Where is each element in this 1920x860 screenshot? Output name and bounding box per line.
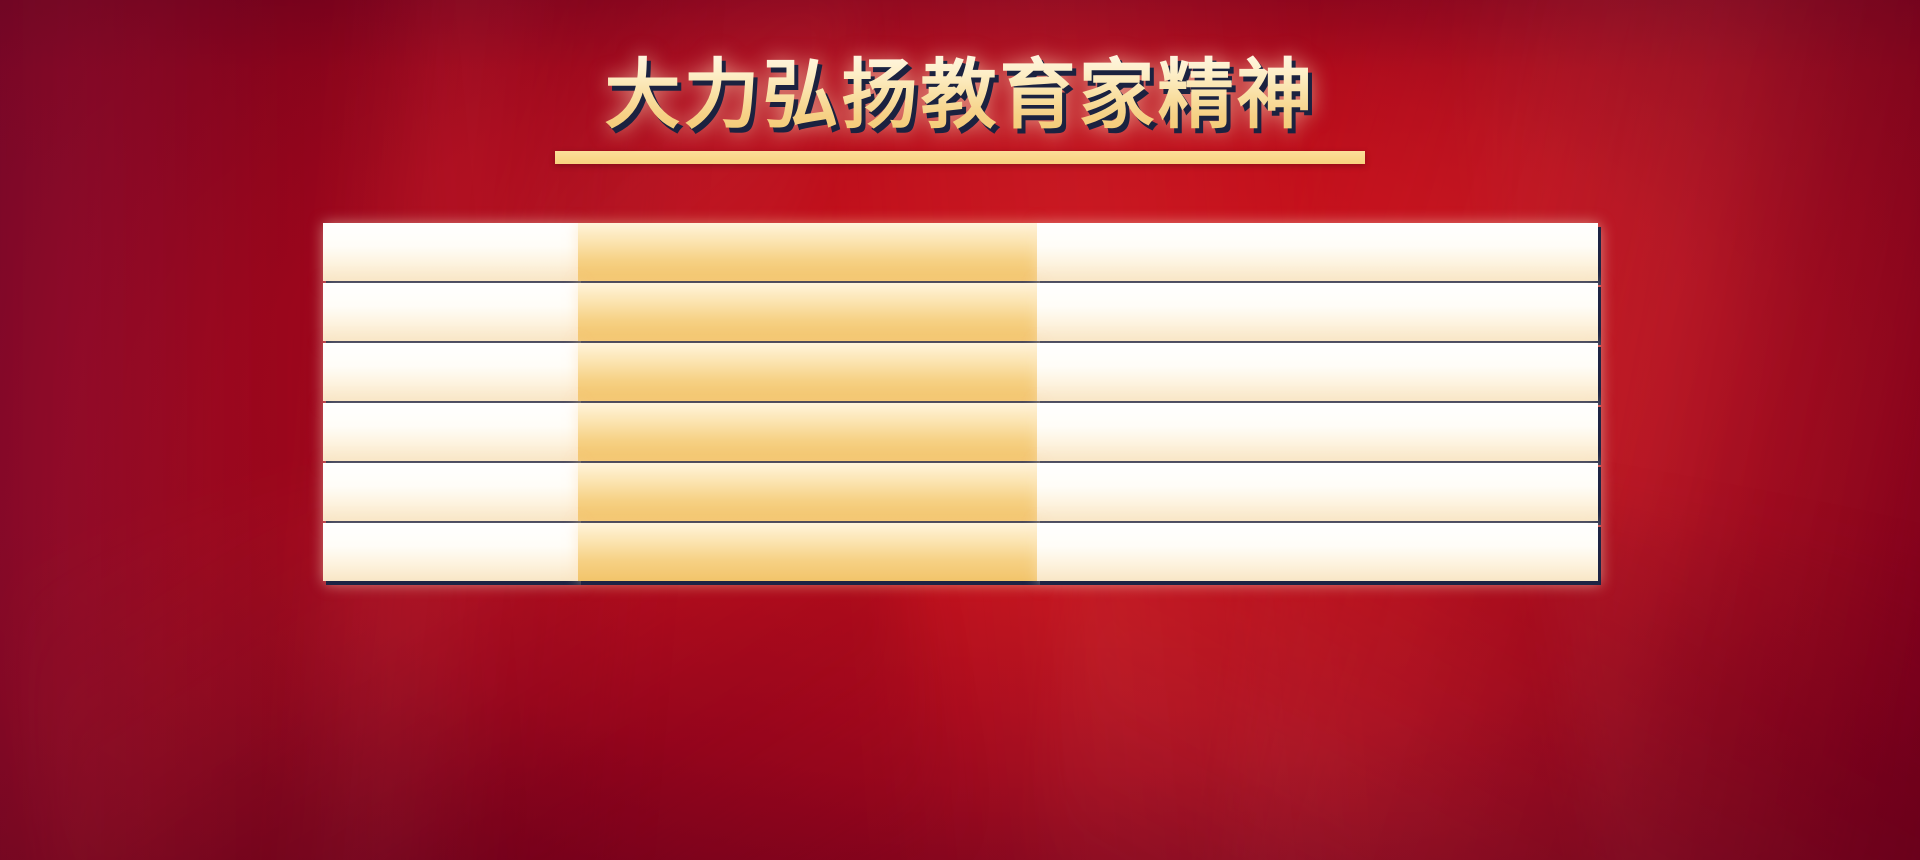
slogan-lead: 乐教爱生、 (323, 463, 578, 521)
banner-poster: 大力弘扬教育家精神 心有大我、至诚报国的理想信念是教育家精神的政治灵魂 言为士则… (0, 0, 1920, 860)
slogan-highlight: 以文化人的弘道追求 (578, 523, 1037, 581)
slogan-tail: 是教育家精神的鲜明品格 (1037, 283, 1598, 341)
slogan-lead: 勤学笃行、 (323, 403, 578, 461)
slogan-tail: 是教育家精神的宏大格局 (1037, 523, 1598, 581)
slogan-lead: 言为士则、 (323, 283, 578, 341)
slogan-tail: 是教育家精神的崇高情怀 (1037, 463, 1598, 521)
slogan-line: 勤学笃行、求是创新的躬耕态度是教育家精神的不竭动力 (0, 402, 1920, 462)
slogan-tail: 是教育家精神的本质要求 (1037, 343, 1598, 401)
slogan-tail: 是教育家精神的政治灵魂 (1037, 223, 1598, 281)
title-block: 大力弘扬教育家精神 (0, 52, 1920, 164)
slogan-highlight: 行为世范的道德情操 (578, 283, 1037, 341)
slogan-lead: 启智润心、 (323, 343, 578, 401)
slogan-line: 胸怀天下、以文化人的弘道追求是教育家精神的宏大格局 (0, 522, 1920, 582)
slogan-line: 乐教爱生、甘于奉献的仁爱之心是教育家精神的崇高情怀 (0, 462, 1920, 522)
slogan-line: 心有大我、至诚报国的理想信念是教育家精神的政治灵魂 (0, 222, 1920, 282)
slogan-lead: 心有大我、 (323, 223, 578, 281)
slogan-highlight: 因材施教的育人智慧 (578, 343, 1037, 401)
slogan-lead: 胸怀天下、 (323, 523, 578, 581)
slogan-line: 言为士则、行为世范的道德情操是教育家精神的鲜明品格 (0, 282, 1920, 342)
slogan-line: 启智润心、因材施教的育人智慧是教育家精神的本质要求 (0, 342, 1920, 402)
slogan-highlight: 至诚报国的理想信念 (578, 223, 1037, 281)
slogan-highlight: 求是创新的躬耕态度 (578, 403, 1037, 461)
page-title: 大力弘扬教育家精神 (605, 52, 1316, 137)
slogan-list: 心有大我、至诚报国的理想信念是教育家精神的政治灵魂 言为士则、行为世范的道德情操… (0, 222, 1920, 582)
title-underline-bar (555, 151, 1365, 164)
slogan-tail: 是教育家精神的不竭动力 (1037, 403, 1598, 461)
slogan-highlight: 甘于奉献的仁爱之心 (578, 463, 1037, 521)
poster-content: 大力弘扬教育家精神 心有大我、至诚报国的理想信念是教育家精神的政治灵魂 言为士则… (0, 0, 1920, 860)
